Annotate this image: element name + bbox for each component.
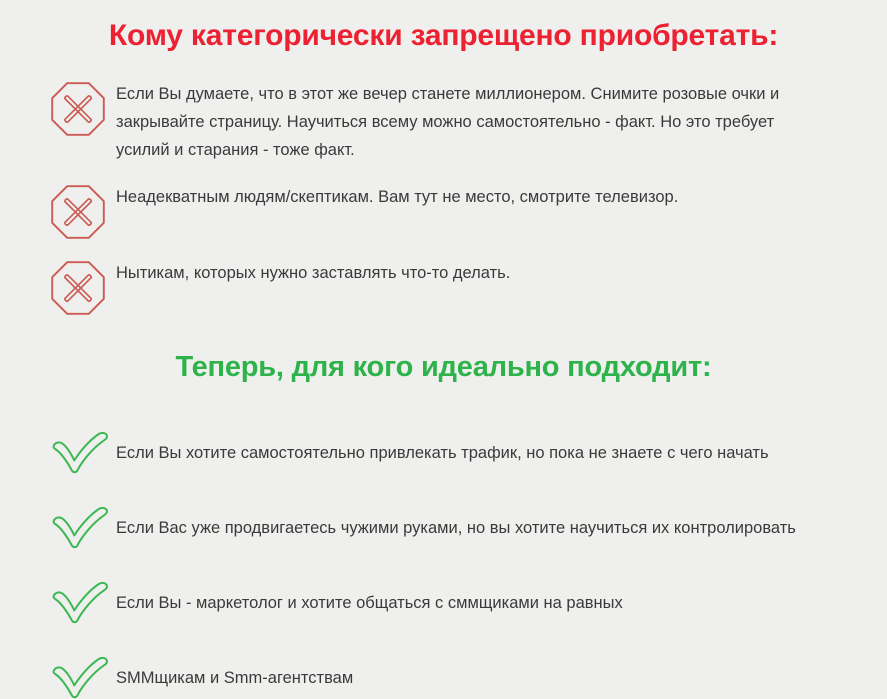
- list-item: Если Вы думаете, что в этот же вечер ста…: [0, 79, 887, 164]
- list-item-text: Нытикам, которых нужно заставлять что-то…: [116, 258, 816, 287]
- suitable-section: Теперь, для кого идеально подходит: Если…: [0, 316, 887, 699]
- suitable-heading: Теперь, для кого идеально подходит:: [0, 316, 887, 384]
- suitable-list: Если Вы хотите самостоятельно привлекать…: [0, 430, 887, 699]
- list-item: SMMщикам и Smm-агентствам: [0, 655, 887, 699]
- promo-page: Кому категорически запрещено приобретать…: [0, 0, 887, 692]
- list-item-text: SMMщикам и Smm-агентствам: [116, 655, 816, 692]
- list-item: Неадекватным людям/скептикам. Вам тут не…: [0, 182, 887, 240]
- forbidden-section: Кому категорически запрещено приобретать…: [0, 0, 887, 316]
- checkmark-icon: [50, 505, 116, 549]
- list-item-text: Если Вы хотите самостоятельно привлекать…: [116, 430, 816, 467]
- forbidden-heading: Кому категорически запрещено приобретать…: [0, 0, 887, 54]
- list-item: Нытикам, которых нужно заставлять что-то…: [0, 258, 887, 316]
- list-item-text: Неадекватным людям/скептикам. Вам тут не…: [116, 182, 816, 211]
- x-octagon-icon: [50, 79, 116, 137]
- checkmark-icon: [50, 430, 116, 474]
- list-item: Если Вас уже продвигаетесь чужими руками…: [0, 505, 887, 549]
- forbidden-list: Если Вы думаете, что в этот же вечер ста…: [0, 79, 887, 316]
- list-item-text: Если Вы - маркетолог и хотите общаться с…: [116, 580, 816, 617]
- list-item: Если Вы - маркетолог и хотите общаться с…: [0, 580, 887, 624]
- x-octagon-icon: [50, 182, 116, 240]
- checkmark-icon: [50, 580, 116, 624]
- list-item: Если Вы хотите самостоятельно привлекать…: [0, 430, 887, 474]
- checkmark-icon: [50, 655, 116, 699]
- x-octagon-icon: [50, 258, 116, 316]
- list-item-text: Если Вас уже продвигаетесь чужими руками…: [116, 505, 816, 542]
- list-item-text: Если Вы думаете, что в этот же вечер ста…: [116, 79, 816, 164]
